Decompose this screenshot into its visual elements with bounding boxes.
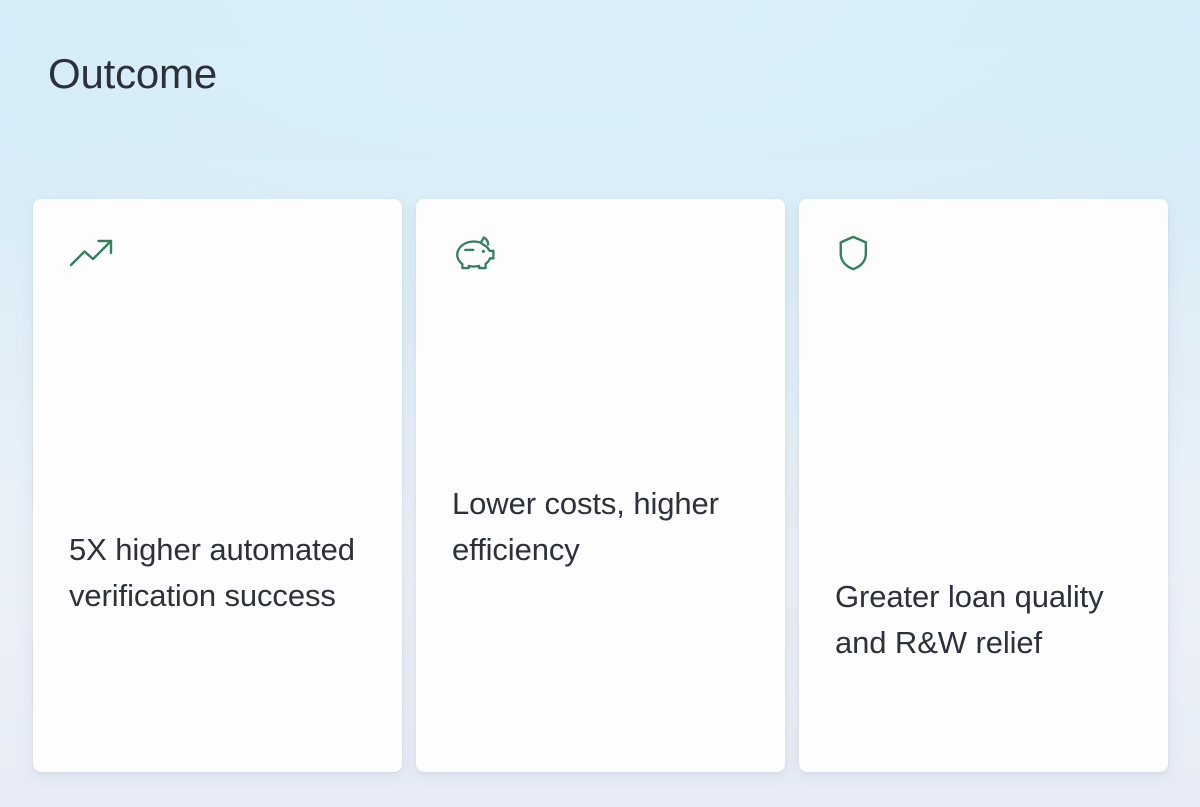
piggy-bank-icon (452, 234, 498, 272)
outcome-card-text: Greater loan quality and R&W relief (835, 574, 1132, 666)
trending-up-icon (69, 234, 115, 272)
outcome-section: Outcome 5X higher automated verification… (0, 0, 1200, 807)
card-spacer (69, 272, 366, 527)
outcome-card: Lower costs, higher efficiency (416, 199, 785, 772)
outcome-card: Greater loan quality and R&W relief (799, 199, 1168, 772)
outcome-card-text: 5X higher automated verification success (69, 527, 366, 619)
card-spacer (835, 272, 1132, 574)
outcome-card-text: Lower costs, higher efficiency (452, 481, 749, 573)
page-title: Outcome (48, 46, 217, 102)
shield-icon (835, 234, 881, 272)
outcome-card-list: 5X higher automated verification success… (33, 199, 1167, 772)
card-spacer (452, 272, 749, 481)
outcome-card: 5X higher automated verification success (33, 199, 402, 772)
